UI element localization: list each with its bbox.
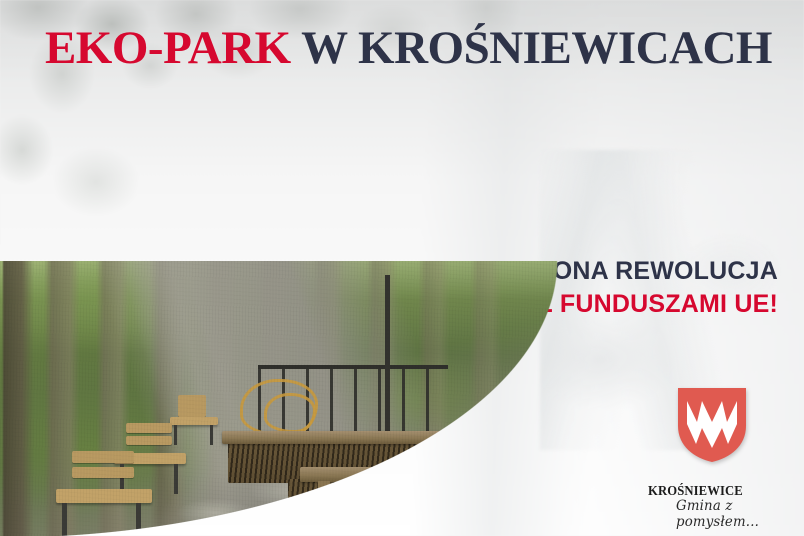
logo-tagline: Gmina z pomysłem... [676, 498, 794, 530]
krosniewice-logo[interactable]: KROŚNIEWICE Gmina z pomysłem... [648, 388, 798, 518]
page-title: EKO-PARK W KROŚNIEWICACH [0, 25, 772, 72]
logo-municipality-name: KROŚNIEWICE [648, 483, 734, 499]
title-w-krosniewicach: W KROŚNIEWICACH [291, 22, 772, 74]
photo-grain-overlay [0, 261, 560, 536]
krosniewice-coat-of-arms-shield-icon [678, 388, 746, 462]
title-eko-park: EKO-PARK [45, 22, 291, 74]
poster-canvas: EKO-PARK W KROŚNIEWICACH ZIELONA REWOLUC… [0, 0, 804, 536]
forest-park-path-with-benches-photo [0, 261, 560, 536]
